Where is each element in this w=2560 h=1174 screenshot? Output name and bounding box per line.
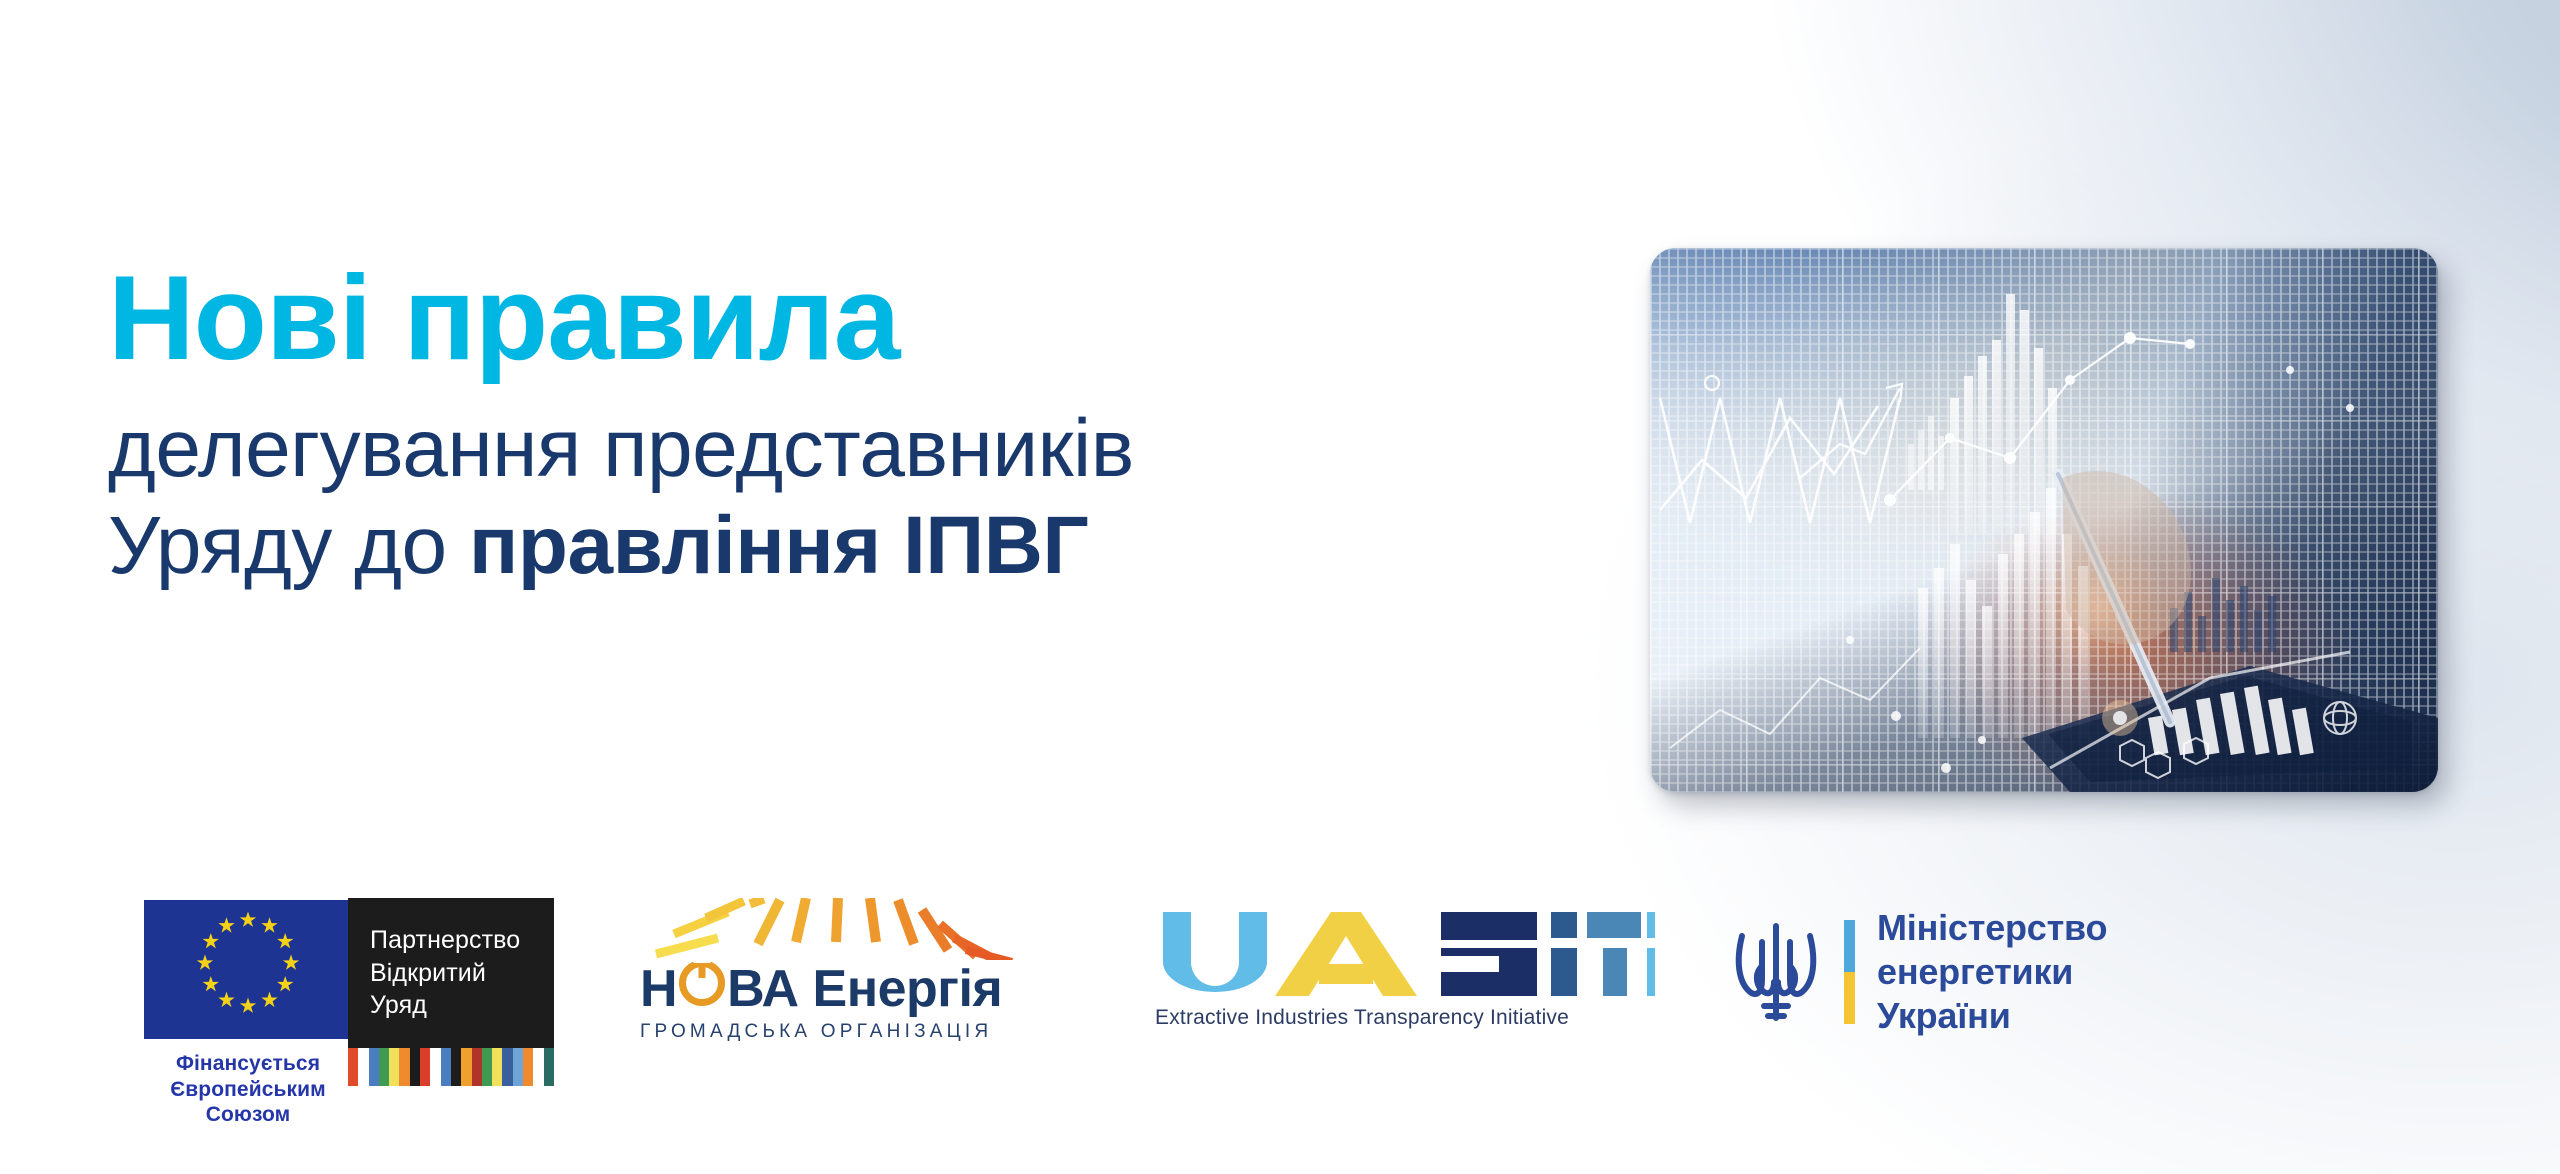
ogp-stripe-2	[369, 1048, 379, 1086]
nova-wordmark: НВА Енергія	[640, 960, 1070, 1015]
ministry-logo: Міністерство енергетики України	[1730, 906, 2190, 1038]
ministry-line-1: Міністерство	[1877, 906, 2107, 950]
ogp-stripe-15	[502, 1048, 512, 1086]
eu-stars-icon	[144, 900, 352, 1039]
ogp-stripe-16	[513, 1048, 523, 1086]
ogp-stripe-9	[441, 1048, 451, 1086]
ogp-stripe-12	[472, 1048, 482, 1086]
ogp-stripe-8	[430, 1048, 440, 1086]
eu-caption-line-1: Фінансується	[128, 1051, 368, 1077]
ogp-stripe-18	[533, 1048, 543, 1086]
ukraine-flag-bar-icon	[1844, 920, 1855, 1024]
ogp-logo: Партнерство Відкритий Уряд	[348, 898, 558, 1086]
ogp-stripe-0	[348, 1048, 358, 1086]
ministry-line-3: України	[1877, 994, 2107, 1038]
banner-canvas: Нові правила делегування представників У…	[0, 0, 2560, 1174]
nova-power-icon	[679, 960, 725, 1006]
headline-subline-1: делегування представників	[108, 406, 1608, 491]
headline-block: Нові правила делегування представників У…	[108, 258, 1608, 589]
eu-flag-icon	[144, 900, 352, 1039]
ogp-stripe-17	[523, 1048, 533, 1086]
ogp-stripe-14	[492, 1048, 502, 1086]
ogp-stripe-5	[399, 1048, 409, 1086]
hero-photo-card	[1650, 248, 2438, 792]
ua-eiti-mark-svg	[1155, 908, 1655, 1000]
ua-eiti-mark	[1155, 908, 1655, 996]
subline-2-prefix: Уряду до	[108, 500, 469, 591]
ogp-stripe-19	[544, 1048, 554, 1086]
ogp-stripe-3	[379, 1048, 389, 1086]
subline-2-strong: правління ІПВГ	[469, 500, 1089, 591]
partner-logo-strip: Фінансується Європейським Союзом Партнер…	[0, 880, 2560, 1120]
nova-word-rest: ВА Енергія	[727, 963, 1002, 1015]
ministry-text: Міністерство енергетики України	[1877, 906, 2107, 1038]
flag-bar-blue	[1844, 920, 1855, 972]
eu-logo: Фінансується Європейським Союзом	[128, 900, 368, 1128]
nova-energia-logo: НВА Енергія ГРОМАДСЬКА ОРГАНІЗАЦІЯ	[640, 898, 1070, 1043]
ogp-box: Партнерство Відкритий Уряд	[348, 898, 554, 1048]
headline-accent: Нові правила	[108, 258, 1608, 378]
ogp-stripe-4	[389, 1048, 399, 1086]
trident-icon	[1730, 920, 1822, 1024]
nova-sun-rays-icon	[640, 898, 1060, 960]
hero-photo-chart-overlay	[1650, 248, 2438, 792]
ogp-stripe-1	[358, 1048, 368, 1086]
headline-subline-2: Уряду до правління ІПВГ	[108, 503, 1608, 588]
ogp-stripe-10	[451, 1048, 461, 1086]
ogp-line-3: Уряд	[370, 989, 554, 1022]
nova-subtitle: ГРОМАДСЬКА ОРГАНІЗАЦІЯ	[640, 1021, 1070, 1043]
ogp-stripe-7	[420, 1048, 430, 1086]
ogp-text: Партнерство Відкритий Уряд	[370, 924, 554, 1022]
nova-rays-svg	[640, 898, 1060, 960]
ministry-line-2: енергетики	[1877, 950, 2107, 994]
ua-eiti-logo: Extractive Industries Transparency Initi…	[1155, 908, 1655, 1030]
nova-letter-n: Н	[640, 963, 677, 1015]
ogp-line-1: Партнерство	[370, 924, 554, 957]
ua-eiti-subtitle: Extractive Industries Transparency Initi…	[1155, 1006, 1655, 1030]
eu-caption-line-2: Європейським Союзом	[128, 1077, 368, 1128]
ogp-line-2: Відкритий	[370, 957, 554, 990]
ogp-stripe-bar	[348, 1048, 554, 1086]
ogp-stripe-11	[461, 1048, 471, 1086]
ogp-stripe-13	[482, 1048, 492, 1086]
ogp-stripe-6	[410, 1048, 420, 1086]
eu-logo-caption: Фінансується Європейським Союзом	[128, 1051, 368, 1128]
flag-bar-yellow	[1844, 972, 1855, 1024]
